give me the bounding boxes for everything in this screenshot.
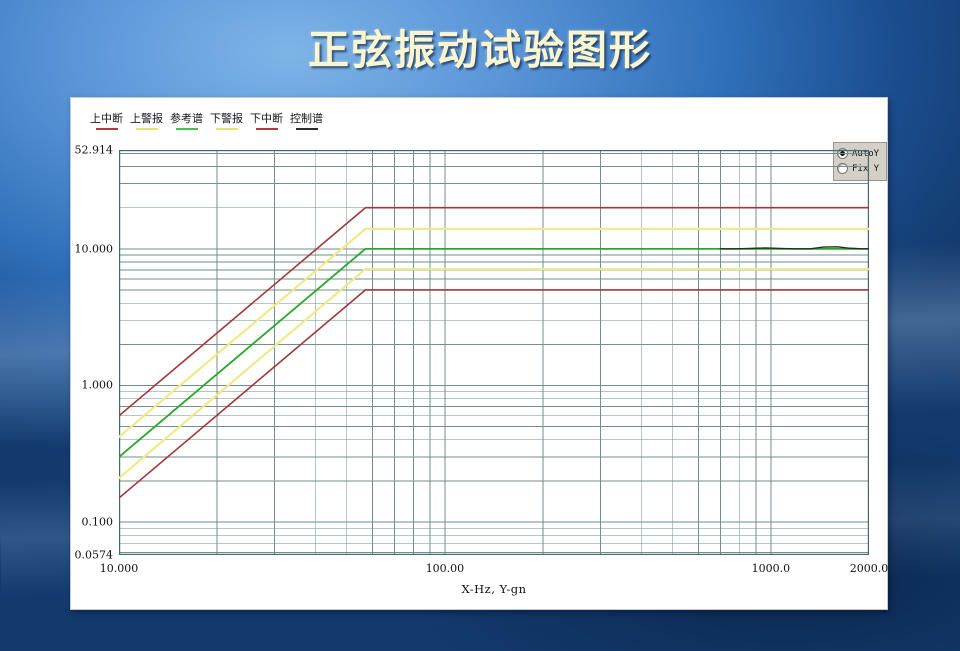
legend-item-reference-spectrum: 参考谱 [170,112,203,130]
legend-item-lower-alarm: 下警报 [210,112,243,130]
y-axis-tick-label: 10.000 [75,242,114,255]
legend-item-lower-abort: 下中断 [250,112,283,130]
chart-legend: 上中断上警报参考谱下警报下中断控制谱 [90,112,323,130]
legend-item-label: 上中断 [90,112,123,125]
legend-swatch-icon [136,128,158,130]
legend-swatch-icon [96,128,118,130]
x-axis-title: X-Hz, Y-gn [461,582,526,596]
legend-item-upper-alarm: 上警报 [130,112,163,130]
series-line [119,269,869,478]
chart-panel: 上中断上警报参考谱下警报下中断控制谱 AutoYFix Y X-Hz, Y-gn… [70,97,888,610]
legend-swatch-icon [176,128,198,130]
legend-item-label: 下中断 [250,112,283,125]
grid-lines [119,150,869,555]
legend-item-label: 下警报 [210,112,243,125]
plot-svg [119,150,869,555]
plot-frame [119,150,869,555]
legend-item-label: 参考谱 [170,112,203,125]
y-axis-tick-label: 0.0574 [75,549,114,562]
plot-area: X-Hz, Y-gn 52.91410.0001.0000.1000.05741… [119,150,869,555]
series-line [119,208,869,416]
slide-canvas: 正弦振动试验图形 上中断上警报参考谱下警报下中断控制谱 AutoYFix Y X… [0,0,960,651]
x-axis-tick-label: 100.00 [426,562,465,575]
page-title: 正弦振动试验图形 [0,16,960,76]
x-axis-tick-label: 1000.0 [752,562,791,575]
series-line [119,229,869,437]
legend-item-control-spectrum: 控制谱 [290,112,323,130]
legend-item-label: 控制谱 [290,112,323,125]
x-axis-tick-label: 10.000 [100,562,139,575]
x-axis-tick-label: 2000.0 [850,562,889,575]
legend-swatch-icon [296,128,318,130]
y-axis-tick-label: 1.000 [82,379,114,392]
y-axis-tick-label: 0.100 [82,516,114,529]
y-axis-tick-label: 52.914 [75,144,114,157]
legend-swatch-icon [256,128,278,130]
legend-item-upper-abort: 上中断 [90,112,123,130]
legend-swatch-icon [216,128,238,130]
legend-item-label: 上警报 [130,112,163,125]
series-line [720,247,869,249]
series-line [119,249,869,457]
